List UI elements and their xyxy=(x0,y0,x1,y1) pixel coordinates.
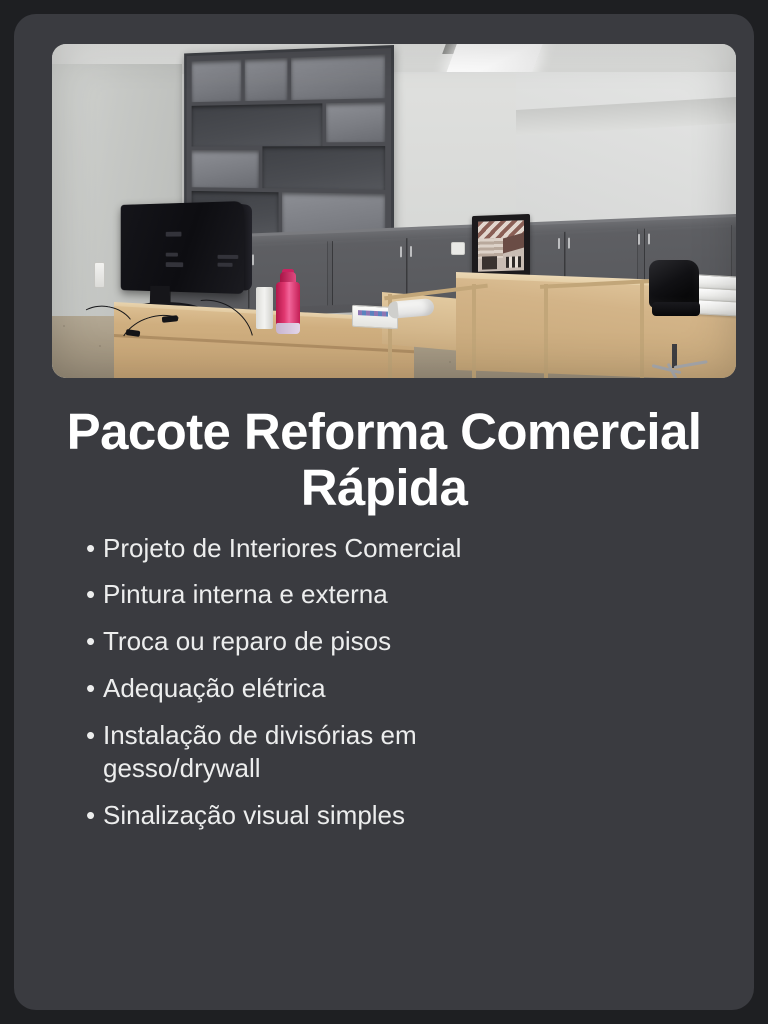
list-item-label: Pintura interna e externa xyxy=(103,578,706,611)
list-item-label: Sinalização visual simples xyxy=(103,799,706,832)
list-item: • Projeto de Interiores Comercial xyxy=(86,532,706,565)
list-item: • Adequação elétrica xyxy=(86,672,706,705)
list-item: • Sinalização visual simples xyxy=(86,799,706,832)
bullet-icon: • xyxy=(86,799,103,832)
bullet-icon: • xyxy=(86,625,103,658)
page-title: Pacote Reforma Comercial Rápida xyxy=(52,404,716,516)
list-item: • Instalação de divisórias em gesso/dryw… xyxy=(86,719,486,785)
list-item-label: Troca ou reparo de pisos xyxy=(103,625,706,658)
bullet-icon: • xyxy=(86,532,103,565)
list-item-label: Projeto de Interiores Comercial xyxy=(103,532,706,565)
list-item: • Pintura interna e externa xyxy=(86,578,706,611)
office-photo xyxy=(52,44,736,378)
list-item-label: Adequação elétrica xyxy=(103,672,706,705)
offer-card: Pacote Reforma Comercial Rápida • Projet… xyxy=(14,14,754,1010)
bullet-icon: • xyxy=(86,578,103,611)
bullet-icon: • xyxy=(86,672,103,705)
bullet-icon: • xyxy=(86,719,103,752)
features-list: • Projeto de Interiores Comercial • Pint… xyxy=(86,532,706,846)
list-item: • Troca ou reparo de pisos xyxy=(86,625,706,658)
list-item-label: Instalação de divisórias em gesso/drywal… xyxy=(103,719,486,785)
photo-vignette xyxy=(52,44,736,378)
